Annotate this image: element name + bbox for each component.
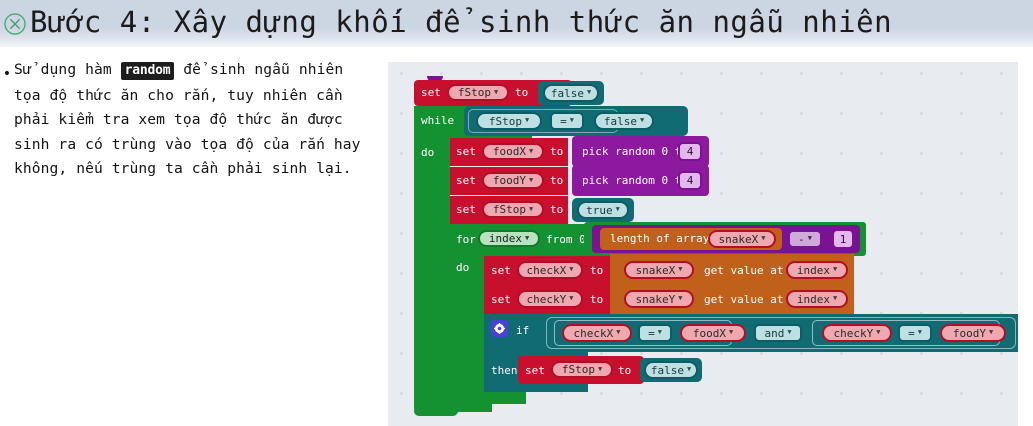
variable-field-foodx[interactable]: foodX▼ [482,143,544,160]
do-label: do [421,147,434,159]
variable-field-checky-cond[interactable]: checkY▼ [822,324,892,342]
to-label-then: to [618,365,631,377]
chevron-down-icon: ▼ [678,265,682,273]
variable-field-snakex-len[interactable]: snakeX▼ [708,230,776,248]
pick-random-label-y: pick random 0 to [582,175,688,187]
chevron-down-icon: ▼ [529,205,533,213]
to-label: to [515,87,528,99]
chevron-down-icon: ▼ [678,294,682,302]
code-chip-random: random [121,62,175,80]
chevron-down-icon: ▼ [761,234,765,242]
while-label: while [421,115,454,127]
slide-header: Bước 4: Xây dựng khối để sinh thức ăn ng… [0,0,1033,47]
variable-field-foody-cond[interactable]: foodY▼ [940,324,1006,342]
number-field-one[interactable]: 1 [832,229,854,249]
variable-field-foody[interactable]: foodY▼ [482,172,544,189]
for-do-label: do [456,262,469,274]
set-label-foody: set [456,175,476,187]
then-label: then [491,365,518,377]
chevron-down-icon: ▼ [494,88,498,96]
set-label: set [421,87,441,99]
set-label-checkx: set [491,265,511,277]
gear-icon[interactable] [491,320,508,337]
boolean-field-false-2[interactable]: false▼ [594,112,654,130]
boolean-field-false-3[interactable]: false▼ [644,361,698,379]
variable-field-fstop-true[interactable]: fStop▼ [482,201,544,218]
chevron-down-icon: ▼ [587,88,591,96]
operator-field-and[interactable]: and▼ [754,324,802,342]
variable-field-checkx-cond[interactable]: checkX▼ [562,324,632,342]
chevron-down-icon: ▼ [918,328,922,336]
variable-field-snakey[interactable]: snakeY▼ [624,290,694,308]
circle-x-icon [2,11,28,37]
variable-field-index-y[interactable]: index▼ [786,290,848,308]
page-title: Bước 4: Xây dựng khối để sinh thức ăn ng… [30,7,892,38]
bullet-marker: • [0,58,14,79]
to-label-foodx: to [550,146,563,158]
chevron-down-icon: ▼ [640,116,644,124]
chevron-down-icon: ▼ [989,328,993,336]
while-bottom-connector [414,410,458,416]
bullet-text: Sử dụng hàm random để sinh ngẫu nhiên tọ… [14,58,372,182]
number-field-randmax-y[interactable]: 4 [678,171,702,190]
operator-field-minus[interactable]: -▼ [788,230,822,248]
chevron-down-icon: ▼ [833,265,837,273]
to-label-checkx: to [590,265,603,277]
variable-field-fstop[interactable]: fStop▼ [447,84,509,101]
chevron-down-icon: ▼ [569,294,573,302]
boolean-field-false-1[interactable]: false▼ [543,84,599,102]
chevron-down-icon: ▼ [529,176,533,184]
block-for-footer[interactable] [450,392,526,404]
text-after-code: để sinh ngẫu nhiên tọa độ thức ăn cho rắ… [14,61,361,177]
for-label: for [456,234,476,246]
chevron-down-icon: ▼ [808,234,812,242]
text-before-code: Sử dụng hàm [14,61,121,78]
chevron-down-icon: ▼ [729,328,733,336]
chevron-down-icon: ▼ [687,365,691,373]
operator-field-equals-2[interactable]: =▼ [638,324,672,342]
variable-field-checky[interactable]: checkY▼ [517,290,583,308]
chevron-down-icon: ▼ [616,328,620,336]
set-label-checky: set [491,294,511,306]
get-value-at-label-y: get value at [704,294,783,306]
set-label-then: set [525,365,545,377]
to-label-checky: to [590,294,603,306]
chevron-down-icon: ▼ [658,328,662,336]
chevron-down-icon: ▼ [876,328,880,336]
variable-field-index-x[interactable]: index▼ [786,261,848,279]
blockly-workspace[interactable]: set fStop▼ to false▼ while do fStop▼ =▼ … [388,62,1018,426]
pick-random-label-x: pick random 0 to [582,146,688,158]
chevron-down-icon: ▼ [833,294,837,302]
description-column: • Sử dụng hàm random để sinh ngẫu nhiên … [0,58,372,182]
chevron-down-icon: ▼ [525,234,529,242]
chevron-down-icon: ▼ [598,365,602,373]
bullet-item: • Sử dụng hàm random để sinh ngẫu nhiên … [0,58,372,182]
variable-field-foodx-cond[interactable]: foodX▼ [680,324,746,342]
if-label: if [516,325,529,337]
chevron-down-icon: ▼ [787,328,791,336]
operator-field-equals-3[interactable]: =▼ [898,324,932,342]
to-label-fstop-true: to [550,204,563,216]
boolean-field-true[interactable]: true▼ [577,201,629,219]
variable-field-snakex[interactable]: snakeX▼ [624,261,694,279]
chevron-down-icon: ▼ [529,147,533,155]
set-label-foodx: set [456,146,476,158]
number-field-randmax-x[interactable]: 4 [678,142,702,161]
chevron-down-icon: ▼ [616,205,620,213]
operator-field-equals-1[interactable]: =▼ [550,112,584,130]
get-value-at-label-x: get value at [704,265,783,277]
length-of-array-label: length of array [610,233,709,245]
variable-field-checkx[interactable]: checkX▼ [517,261,583,279]
variable-field-index[interactable]: index▼ [478,230,540,247]
set-label-fstop-true: set [456,204,476,216]
to-label-foody: to [550,175,563,187]
variable-field-fstop-cond[interactable]: fStop▼ [476,112,542,130]
slide-page: Bước 4: Xây dựng khối để sinh thức ăn ng… [0,0,1033,426]
variable-field-fstop-then[interactable]: fStop▼ [551,361,613,378]
chevron-down-icon: ▼ [569,265,573,273]
chevron-down-icon: ▼ [525,116,529,124]
chevron-down-icon: ▼ [570,116,574,124]
